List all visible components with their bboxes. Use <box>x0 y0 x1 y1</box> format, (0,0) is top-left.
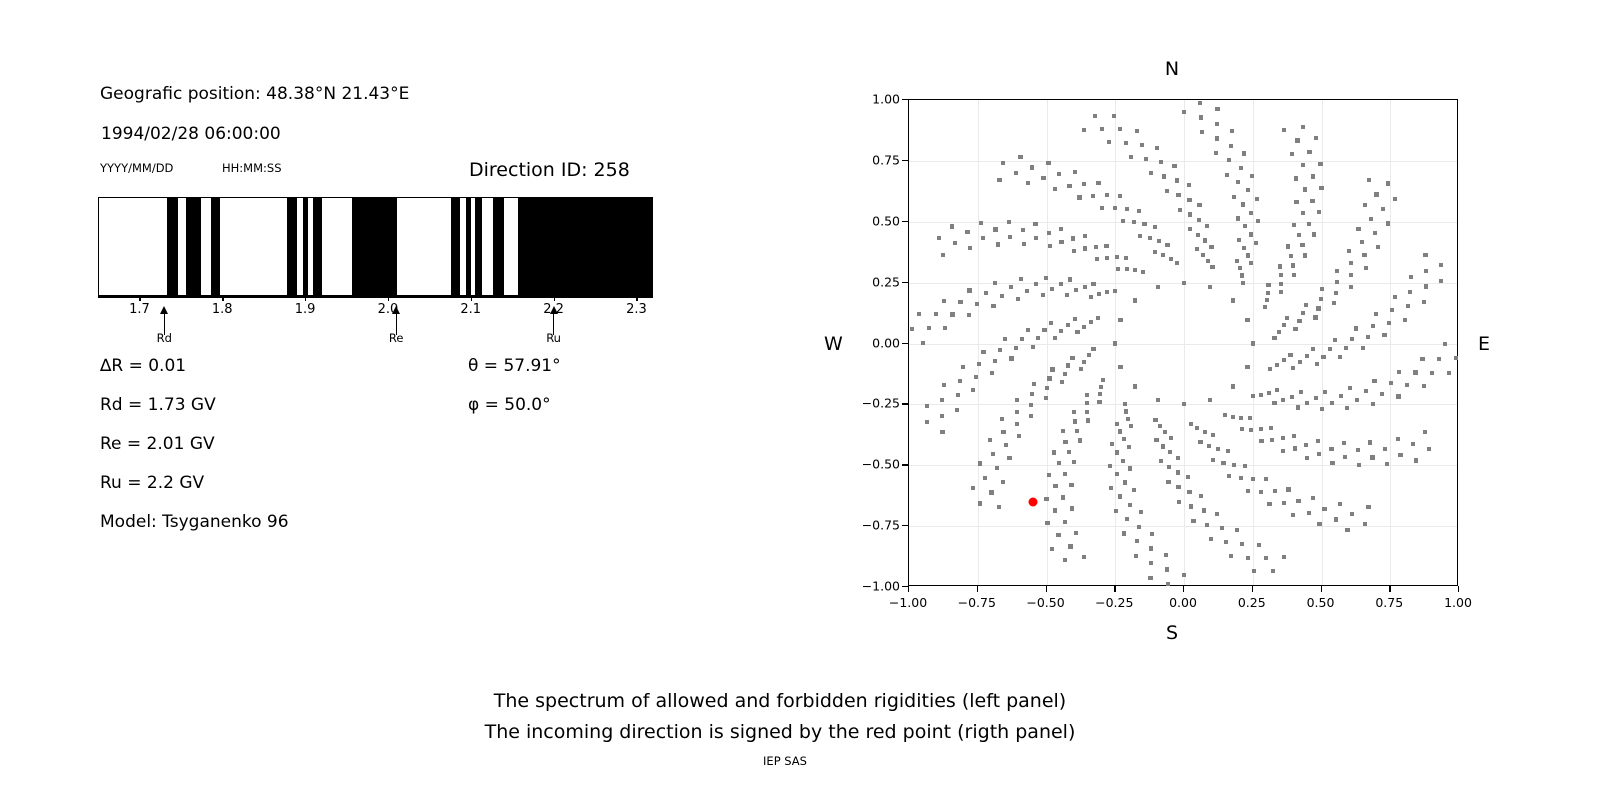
direction-point <box>1305 401 1309 405</box>
direction-point <box>1097 292 1101 296</box>
direction-point <box>1226 449 1230 453</box>
direction-point <box>1079 367 1083 371</box>
direction-point <box>1251 341 1255 345</box>
x-tick-label: −1.00 <box>889 595 927 610</box>
direction-point <box>1424 284 1428 288</box>
direction-point <box>1067 450 1071 454</box>
direction-point <box>1113 206 1117 210</box>
direction-point <box>1047 231 1051 235</box>
direction-point <box>1249 232 1253 236</box>
direction-point <box>1349 285 1353 289</box>
direction-point <box>1155 146 1159 150</box>
direction-point <box>1246 188 1250 192</box>
y-tick <box>902 160 908 161</box>
direction-point <box>1050 287 1054 291</box>
direction-point <box>1235 259 1239 263</box>
direction-point <box>1269 426 1273 430</box>
direction-point <box>1301 211 1305 215</box>
direction-point <box>1241 202 1245 206</box>
direction-point <box>1242 246 1246 250</box>
x-tick <box>977 586 978 592</box>
direction-point <box>1364 266 1368 270</box>
direction-point <box>1176 456 1180 460</box>
direction-point <box>1281 449 1285 453</box>
direction-point <box>1298 360 1302 364</box>
direction-point <box>1266 283 1270 287</box>
direction-point <box>1188 227 1192 231</box>
direction-point <box>1367 178 1371 182</box>
direction-point <box>1075 330 1079 334</box>
direction-point <box>1060 380 1064 384</box>
direction-point <box>1282 358 1286 362</box>
direction-point <box>1122 531 1126 535</box>
direction-point <box>1297 319 1301 323</box>
direction-point <box>1149 171 1153 175</box>
direction-point <box>1101 378 1105 382</box>
direction-point <box>940 430 944 434</box>
direction-point <box>1393 197 1397 201</box>
direction-point <box>1148 576 1152 580</box>
direction-point <box>1246 253 1250 257</box>
direction-point <box>1259 439 1263 443</box>
direction-point <box>1208 285 1212 289</box>
direction-point <box>1105 193 1109 197</box>
direction-point <box>1209 537 1213 541</box>
x-tick-label: 0.00 <box>1169 595 1197 610</box>
direction-point <box>1206 259 1210 263</box>
direction-point <box>1187 198 1191 202</box>
direction-point <box>937 236 941 240</box>
direction-point <box>979 221 983 225</box>
x-tick-label: 0.50 <box>1307 595 1335 610</box>
direction-point <box>1362 253 1366 257</box>
x-tick <box>1252 586 1253 592</box>
direction-point <box>1159 160 1163 164</box>
direction-point <box>1289 254 1293 258</box>
direction-point <box>1439 263 1443 267</box>
direction-point <box>958 300 962 304</box>
direction-point <box>1015 410 1019 414</box>
direction-point <box>1232 463 1236 467</box>
direction-point <box>1349 273 1353 277</box>
direction-point <box>1349 261 1353 265</box>
direction-point <box>1176 485 1180 489</box>
direction-point <box>1271 569 1275 573</box>
direction-point <box>1221 461 1225 465</box>
direction-point <box>1041 293 1045 297</box>
direction-point <box>989 490 993 494</box>
direction-point <box>1137 209 1141 213</box>
direction-point <box>1323 390 1327 394</box>
direction-point <box>1245 365 1249 369</box>
direction-point <box>1241 281 1245 285</box>
compass-label-north: N <box>1165 58 1179 80</box>
direction-point <box>1098 392 1102 396</box>
direction-point <box>1249 211 1253 215</box>
direction-point <box>1281 398 1285 402</box>
direction-point <box>1118 429 1122 433</box>
direction-point <box>1071 236 1075 240</box>
direction-point <box>1025 289 1029 293</box>
direction-point <box>1211 433 1215 437</box>
gridline-vertical <box>978 100 979 585</box>
direction-point <box>975 302 979 306</box>
direction-point <box>1158 424 1162 428</box>
direction-point <box>1053 187 1057 191</box>
direction-point <box>1422 300 1426 304</box>
direction-point <box>1390 308 1394 312</box>
direction-point <box>1156 285 1160 289</box>
direction-point <box>925 404 929 408</box>
direction-point <box>1235 528 1239 532</box>
direction-point <box>1140 143 1144 147</box>
direction-point <box>1105 256 1109 260</box>
direction-point <box>971 388 975 392</box>
direction-point <box>1199 115 1203 119</box>
direction-point <box>1292 273 1296 277</box>
direction-point <box>1137 525 1141 529</box>
direction-point <box>1245 318 1249 322</box>
direction-point <box>1009 356 1013 360</box>
direction-point <box>1053 336 1057 340</box>
direction-point <box>1304 303 1308 307</box>
direction-point <box>1278 264 1282 268</box>
direction-point <box>1017 434 1021 438</box>
direction-point <box>956 393 960 397</box>
direction-point <box>1066 363 1070 367</box>
direction-point <box>1154 438 1158 442</box>
direction-point <box>1003 337 1007 341</box>
direction-point <box>1227 158 1231 162</box>
direction-point <box>1303 187 1307 191</box>
y-tick-label: 0.25 <box>830 274 900 289</box>
direction-point <box>1249 428 1253 432</box>
direction-point <box>1067 184 1071 188</box>
direction-point <box>1279 282 1283 286</box>
gridline-vertical <box>1322 100 1323 585</box>
direction-point <box>1348 386 1352 390</box>
direction-point <box>1166 480 1170 484</box>
direction-point <box>1290 395 1294 399</box>
direction-point <box>1085 393 1089 397</box>
direction-point <box>991 452 995 456</box>
direction-point <box>1257 543 1261 547</box>
direction-point <box>1144 157 1148 161</box>
direction-point <box>1069 483 1073 487</box>
direction-point <box>1047 473 1051 477</box>
direction-point <box>1259 490 1263 494</box>
direction-point <box>1075 429 1079 433</box>
x-tick <box>908 586 909 592</box>
direction-point <box>1123 402 1127 406</box>
direction-point <box>1307 511 1311 515</box>
x-tick <box>1321 586 1322 592</box>
gridline-vertical <box>1390 100 1391 585</box>
caption-line-2: The incoming direction is signed by the … <box>0 717 1560 748</box>
direction-point <box>1335 280 1339 284</box>
direction-point <box>1115 422 1119 426</box>
direction-point <box>1248 416 1252 420</box>
direction-point <box>1368 440 1372 444</box>
direction-point <box>967 313 971 317</box>
direction-point <box>1291 263 1295 267</box>
direction-point <box>1214 151 1218 155</box>
direction-point <box>1297 233 1301 237</box>
direction-point <box>1319 186 1323 190</box>
direction-point <box>1034 236 1038 240</box>
direction-point <box>1389 381 1393 385</box>
direction-point <box>1127 445 1131 449</box>
direction-point <box>917 312 921 316</box>
direction-point <box>1313 315 1317 319</box>
direction-point <box>1303 253 1307 257</box>
direction-point <box>1032 382 1036 386</box>
direction-point <box>1007 456 1011 460</box>
direction-point <box>1345 528 1349 532</box>
direction-point <box>1406 304 1410 308</box>
y-tick <box>902 525 908 526</box>
direction-point <box>1070 356 1074 360</box>
direction-point <box>1050 547 1054 551</box>
direction-point <box>1008 235 1012 239</box>
direction-point <box>1211 458 1215 462</box>
direction-point <box>1072 460 1076 464</box>
direction-point <box>1175 178 1179 182</box>
direction-point <box>1029 414 1033 418</box>
direction-point <box>1089 295 1093 299</box>
direction-point <box>1059 240 1063 244</box>
direction-point <box>993 359 997 363</box>
direction-point <box>1311 496 1315 500</box>
direction-point <box>1285 316 1289 320</box>
direction-point <box>1231 384 1235 388</box>
x-tick <box>1114 586 1115 592</box>
direction-point <box>942 299 946 303</box>
direction-point <box>1197 203 1201 207</box>
direction-point <box>1030 392 1034 396</box>
direction-point <box>1237 238 1241 242</box>
direction-point <box>1133 298 1137 302</box>
direction-point <box>1150 532 1154 536</box>
direction-point <box>1215 136 1219 140</box>
direction-point <box>1115 450 1119 454</box>
direction-point <box>1282 128 1286 132</box>
direction-point <box>1338 502 1342 506</box>
direction-point <box>1073 419 1077 423</box>
direction-point <box>1249 261 1253 265</box>
direction-point <box>1141 270 1145 274</box>
direction-point <box>1066 323 1070 327</box>
direction-point <box>1345 406 1349 410</box>
direction-point <box>1161 253 1165 257</box>
direction-point <box>1282 501 1286 505</box>
direction-point <box>1059 227 1063 231</box>
direction-point <box>1091 282 1095 286</box>
direction-point <box>1041 176 1045 180</box>
direction-point <box>927 326 931 330</box>
direction-point <box>1243 464 1247 468</box>
direction-point <box>1321 355 1325 359</box>
direction-point <box>1224 540 1228 544</box>
direction-point <box>1403 318 1407 322</box>
direction-point <box>1405 383 1409 387</box>
y-tick <box>902 99 908 100</box>
direction-point <box>1300 243 1304 247</box>
y-tick <box>902 464 908 465</box>
direction-point <box>943 326 947 330</box>
direction-point <box>1251 477 1255 481</box>
direction-point <box>1093 114 1097 118</box>
direction-point <box>1124 409 1128 413</box>
direction-point <box>1238 266 1242 270</box>
direction-point <box>1382 333 1386 337</box>
x-tick-label: −0.25 <box>1095 595 1133 610</box>
direction-point <box>1443 342 1447 346</box>
gridline-vertical <box>1047 100 1048 585</box>
direction-point <box>1315 362 1319 366</box>
direction-point <box>1053 508 1057 512</box>
direction-point <box>1319 297 1323 301</box>
compass-label-east: E <box>1478 333 1490 355</box>
direction-point <box>1344 346 1348 350</box>
direction-point <box>1063 440 1067 444</box>
direction-point <box>1396 437 1400 441</box>
direction-point <box>1198 101 1202 105</box>
direction-point <box>1263 305 1267 309</box>
direction-point <box>1328 347 1332 351</box>
direction-point <box>1128 503 1132 507</box>
direction-point <box>1312 232 1316 236</box>
direction-point <box>1112 114 1116 118</box>
direction-point <box>921 341 925 345</box>
direction-point <box>1125 207 1129 211</box>
direction-point <box>1314 136 1318 140</box>
direction-point <box>1004 443 1008 447</box>
direction-point <box>1414 458 1418 462</box>
direction-point <box>974 375 978 379</box>
direction-point <box>1100 127 1104 131</box>
direction-point <box>1149 561 1153 565</box>
direction-point <box>1059 329 1063 333</box>
direction-point <box>1123 480 1127 484</box>
direction-point <box>1108 464 1112 468</box>
direction-point <box>1082 360 1086 364</box>
direction-point <box>1015 398 1019 402</box>
direction-point <box>1176 470 1180 474</box>
direction-point <box>1121 219 1125 223</box>
y-tick-label: −0.25 <box>830 396 900 411</box>
direction-point <box>1182 281 1186 285</box>
direction-point <box>1047 376 1051 380</box>
direction-point <box>1116 267 1120 271</box>
direction-point <box>1277 330 1281 334</box>
direction-point <box>1198 440 1202 444</box>
direction-point <box>993 227 997 231</box>
direction-point <box>1255 197 1259 201</box>
direction-point <box>1175 261 1179 265</box>
direction-point <box>1305 456 1309 460</box>
y-tick-label: 0.75 <box>830 152 900 167</box>
y-tick <box>902 221 908 222</box>
direction-point <box>955 408 959 412</box>
direction-point <box>1188 212 1192 216</box>
direction-point <box>1139 510 1143 514</box>
direction-point <box>981 350 985 354</box>
direction-point <box>967 288 971 292</box>
direction-point <box>1266 291 1270 295</box>
direction-point <box>1074 531 1078 535</box>
x-tick-label: 0.75 <box>1375 595 1403 610</box>
direction-point <box>1334 517 1338 521</box>
direction-point <box>953 241 957 245</box>
direction-point <box>1044 276 1048 280</box>
direction-point <box>1063 372 1067 376</box>
direction-point <box>1148 236 1152 240</box>
direction-point <box>1236 180 1240 184</box>
direction-point <box>995 466 999 470</box>
direction-point <box>1168 450 1172 454</box>
compass-label-west: W <box>824 333 843 355</box>
direction-point <box>1121 459 1125 463</box>
x-tick <box>1183 586 1184 592</box>
direction-point <box>1203 238 1207 242</box>
direction-point <box>1318 162 1322 166</box>
direction-point <box>1347 249 1351 253</box>
direction-point <box>1053 484 1057 488</box>
direction-point <box>1045 521 1049 525</box>
direction-point <box>1072 410 1076 414</box>
selected-direction-point[interactable] <box>1028 497 1037 506</box>
direction-point <box>1250 174 1254 178</box>
direction-point <box>1100 206 1104 210</box>
direction-point <box>1243 224 1247 228</box>
direction-point <box>1361 346 1365 350</box>
direction-point <box>996 242 1000 246</box>
direction-point <box>1196 233 1200 237</box>
direction-point <box>1021 228 1025 232</box>
direction-point <box>1061 495 1065 499</box>
direction-point <box>934 312 938 316</box>
direction-point <box>1203 430 1207 434</box>
direction-point <box>1165 189 1169 193</box>
direction-point <box>1153 225 1157 229</box>
direction-point <box>1408 290 1412 294</box>
direction-point <box>1317 522 1321 526</box>
direction-point <box>1296 499 1300 503</box>
direction-point <box>1165 243 1169 247</box>
direction-point <box>1044 396 1048 400</box>
direction-point <box>1282 323 1286 327</box>
direction-point <box>1251 394 1255 398</box>
direction-point <box>1073 317 1077 321</box>
direction-point <box>1000 417 1004 421</box>
direction-point <box>1293 446 1297 450</box>
direction-point <box>1063 558 1067 562</box>
direction-point <box>1063 472 1067 476</box>
direction-point <box>1031 345 1035 349</box>
direction-point <box>1267 502 1271 506</box>
y-tick-label: −0.75 <box>830 518 900 533</box>
direction-point <box>1083 234 1087 238</box>
direction-point <box>1387 321 1391 325</box>
direction-point <box>1114 509 1118 513</box>
direction-point <box>1259 427 1263 431</box>
direction-point <box>1322 507 1326 511</box>
direction-point <box>1335 269 1339 273</box>
direction-point <box>1036 336 1040 340</box>
direction-point <box>1178 208 1182 212</box>
direction-point <box>1187 490 1191 494</box>
